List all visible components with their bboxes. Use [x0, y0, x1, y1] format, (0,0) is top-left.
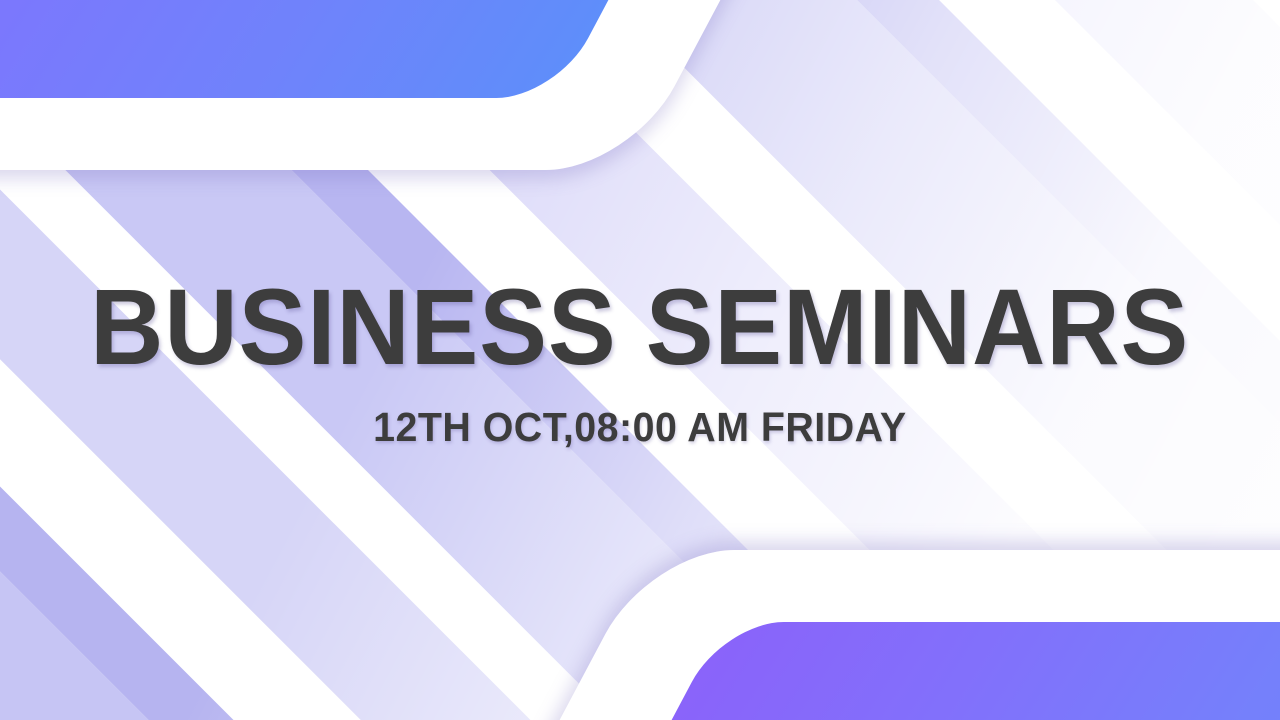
headline-block: BUSINESS SEMINARS 12TH OCT,08:00 AM FRID… [0, 0, 1280, 720]
poster-canvas: BUSINESS SEMINARS 12TH OCT,08:00 AM FRID… [0, 0, 1280, 720]
poster-title: BUSINESS SEMINARS [90, 273, 1189, 381]
poster-subtitle: 12TH OCT,08:00 AM FRIDAY [373, 407, 907, 448]
